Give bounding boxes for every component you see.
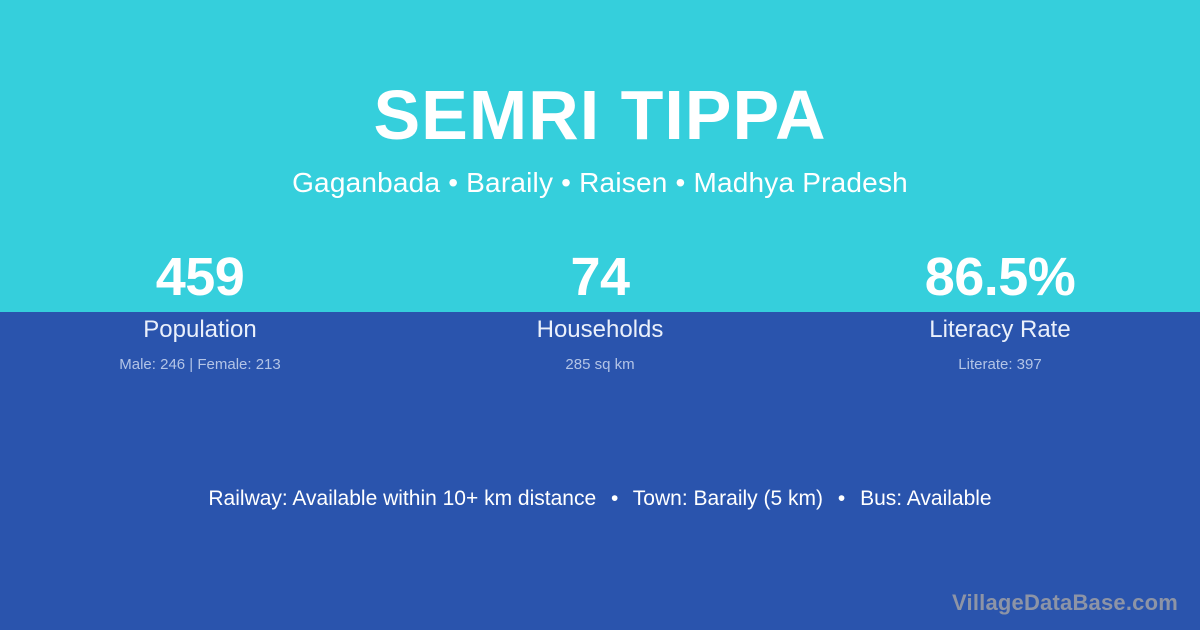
page-title: SEMRI TIPPA (0, 78, 1200, 154)
connectivity-railway: Railway: Available within 10+ km distanc… (208, 487, 596, 510)
connectivity-bus: Bus: Available (860, 487, 992, 510)
stat-population: 459 Population Male: 246 | Female: 213 (0, 248, 400, 375)
stats-row: 459 Population Male: 246 | Female: 213 7… (0, 248, 1200, 375)
stat-label: Households (400, 314, 800, 345)
breadcrumb: Gaganbada • Baraily • Raisen • Madhya Pr… (0, 166, 1200, 200)
stat-literacy-rate: 86.5% Literacy Rate Literate: 397 (800, 248, 1200, 375)
stat-subtext: 285 sq km (400, 354, 800, 375)
stat-value: 86.5% (800, 248, 1200, 312)
stat-value: 74 (400, 248, 800, 312)
stat-label: Population (0, 314, 400, 345)
site-brand: VillageDataBase.com (952, 590, 1178, 616)
connectivity-line: Railway: Available within 10+ km distanc… (0, 485, 1200, 512)
connectivity-town: Town: Baraily (5 km) (633, 487, 823, 510)
stat-subtext: Literate: 397 (800, 354, 1200, 375)
connectivity-separator: • (602, 485, 627, 512)
village-info-card: SEMRI TIPPA Gaganbada • Baraily • Raisen… (0, 0, 1200, 630)
stat-households: 74 Households 285 sq km (400, 248, 800, 375)
stat-label: Literacy Rate (800, 314, 1200, 345)
connectivity-separator: • (829, 485, 854, 512)
stat-subtext: Male: 246 | Female: 213 (0, 354, 400, 375)
header-block: SEMRI TIPPA Gaganbada • Baraily • Raisen… (0, 0, 1200, 199)
stat-value: 459 (0, 248, 400, 312)
